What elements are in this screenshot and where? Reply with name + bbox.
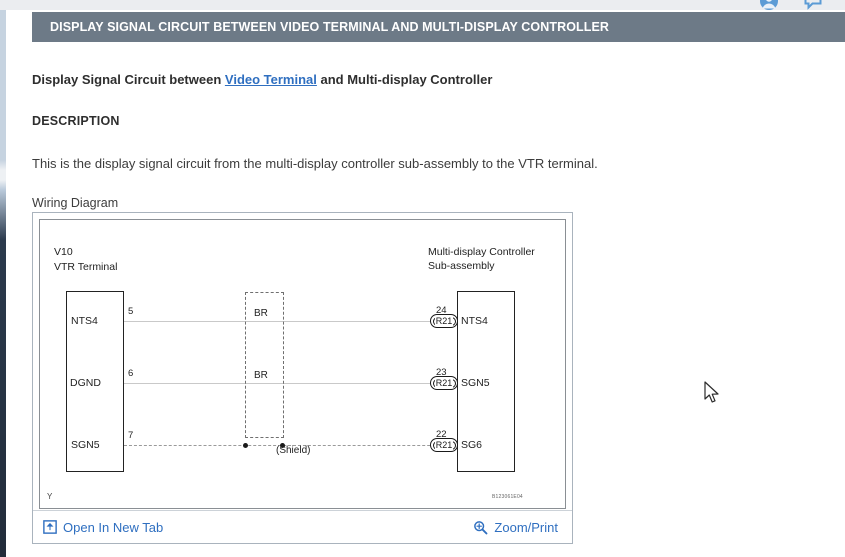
right-component-name-line2: Sub-assembly [428, 260, 495, 272]
connector-r21-pin22: R21 [430, 438, 458, 452]
figure-action-bar: Open In New Tab Zoom/Print [33, 510, 572, 543]
wire-nts4 [124, 321, 460, 322]
left-pin-label-2: DGND [70, 377, 101, 389]
open-in-new-tab-button[interactable]: Open In New Tab [43, 520, 163, 535]
right-component-name-line1: Multi-display Controller [428, 246, 535, 258]
zoom-print-label: Zoom/Print [494, 520, 558, 535]
subtitle: Display Signal Circuit between Video Ter… [32, 72, 492, 87]
connector-r21-pin23: R21 [430, 376, 458, 390]
external-window-icon [43, 520, 57, 534]
wire-color-br-2: BR [254, 370, 268, 381]
wire-color-br-1: BR [254, 308, 268, 319]
page-title: DISPLAY SIGNAL CIRCUIT BETWEEN VIDEO TER… [32, 20, 609, 34]
shield-label: (Shield) [276, 445, 310, 456]
page-heading-bar: DISPLAY SIGNAL CIRCUIT BETWEEN VIDEO TER… [32, 12, 845, 42]
description-body: This is the display signal circuit from … [32, 156, 598, 171]
open-in-new-tab-label: Open In New Tab [63, 520, 163, 535]
left-pin-label-1: NTS4 [71, 315, 98, 327]
subtitle-suffix: and Multi-display Controller [317, 72, 493, 87]
subtitle-prefix: Display Signal Circuit between [32, 72, 225, 87]
left-pin-number-1: 5 [128, 306, 133, 317]
connector-label-1: R21 [435, 316, 454, 326]
zoom-print-button[interactable]: Zoom/Print [473, 520, 558, 535]
left-component-code: V10 [54, 246, 73, 258]
left-side-rail [0, 10, 6, 557]
magnifier-plus-icon [473, 520, 488, 535]
connector-r21-pin24: R21 [430, 314, 458, 328]
connector-label-2: R21 [435, 378, 454, 388]
main-content: DISPLAY SIGNAL CIRCUIT BETWEEN VIDEO TER… [20, 10, 845, 557]
wiring-diagram-card: V10 VTR Terminal Multi-display Controlle… [32, 212, 573, 544]
left-pin-number-3: 7 [128, 430, 133, 441]
video-terminal-link[interactable]: Video Terminal [225, 72, 317, 87]
left-pin-number-2: 6 [128, 368, 133, 379]
left-pin-label-3: SGN5 [71, 439, 100, 451]
right-pin-label-1: NTS4 [461, 315, 488, 327]
figure-code: B123061E04 [492, 494, 523, 500]
description-heading: DESCRIPTION [32, 114, 120, 128]
wiring-diagram-image[interactable]: V10 VTR Terminal Multi-display Controlle… [39, 219, 566, 509]
shield-junction-left [243, 443, 248, 448]
wiring-diagram-label: Wiring Diagram [32, 196, 118, 210]
right-pin-label-3: SG6 [461, 439, 482, 451]
browser-chrome-strip [0, 0, 845, 10]
wire-dgnd-sgn5 [124, 383, 460, 384]
sheet-marker: Y [47, 492, 52, 501]
right-pin-label-2: SGN5 [461, 377, 490, 389]
connector-label-3: R21 [435, 440, 454, 450]
left-component-name: VTR Terminal [54, 261, 117, 273]
